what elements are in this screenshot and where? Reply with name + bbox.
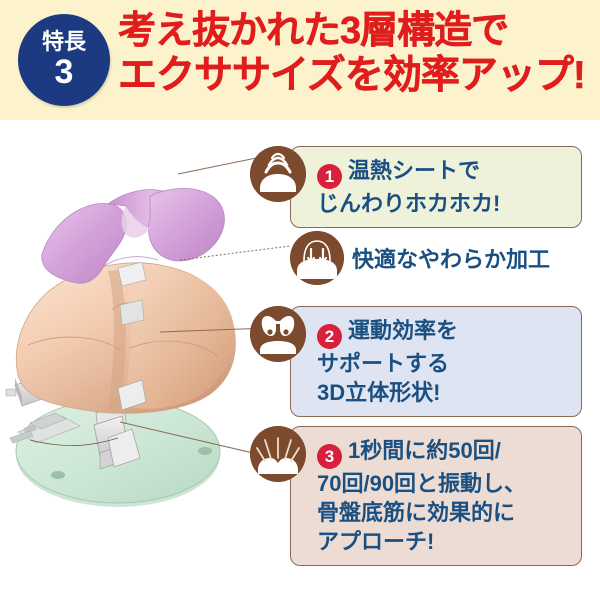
callout-4-line-2: 70回/90回と振動し、 bbox=[317, 469, 567, 498]
callout-4-number: 3 bbox=[317, 444, 342, 469]
callout-3d-shape: 2運動効率を サポートする 3D立体形状! bbox=[250, 306, 582, 417]
pelvis-bone-seat-icon bbox=[250, 306, 306, 362]
callout-1-text: 1温熱シートで じんわりホカホカ! bbox=[317, 156, 567, 218]
feature-badge-label: 特長 bbox=[42, 31, 86, 53]
cushion-layer bbox=[16, 262, 235, 413]
soft-cushion-arrows-icon bbox=[290, 231, 344, 285]
callout-4-box: 31秒間に約50回/ 70回/90回と振動し、 骨盤底筋に効果的に アプローチ! bbox=[290, 426, 582, 566]
callout-1-box: 1温熱シートで じんわりホカホカ! bbox=[290, 146, 582, 228]
callout-1-line-1: 温熱シートで bbox=[348, 158, 480, 183]
callout-4-text: 31秒間に約50回/ 70回/90回と振動し、 骨盤底筋に効果的に アプローチ! bbox=[317, 436, 567, 556]
callout-3-line-1: 運動効率を bbox=[348, 318, 458, 343]
callout-3-text: 2運動効率を サポートする 3D立体形状! bbox=[317, 316, 567, 407]
callout-2-text: 快適なやわらか加工 bbox=[352, 242, 550, 274]
callout-3-line-3: 3D立体形状! bbox=[317, 378, 567, 407]
heat-waves-cushion-icon bbox=[250, 146, 306, 202]
callout-4-line-1: 1秒間に約50回/ bbox=[348, 438, 501, 463]
feature-badge-number: 3 bbox=[55, 55, 74, 89]
callout-1-line-2: じんわりホカホカ! bbox=[317, 189, 567, 218]
callout-3-box: 2運動効率を サポートする 3D立体形状! bbox=[290, 306, 582, 417]
infographic-canvas: 特長 3 考え抜かれた3層構造で エクササイズを効率アップ! bbox=[0, 0, 600, 600]
headline-line-1: 考え抜かれた3層構造で bbox=[118, 10, 596, 54]
feature-badge: 特長 3 bbox=[18, 14, 110, 106]
header-band: 特長 3 考え抜かれた3層構造で エクササイズを効率アップ! bbox=[0, 0, 600, 120]
callout-heating-sheet: 1温熱シートで じんわりホカホカ! bbox=[250, 146, 582, 228]
callout-vibration: 31秒間に約50回/ 70回/90回と振動し、 骨盤底筋に効果的に アプローチ! bbox=[250, 426, 582, 566]
callout-soft-processing: 快適なやわらか加工 bbox=[290, 231, 550, 285]
product-exploded-diagram bbox=[0, 170, 262, 515]
headline: 考え抜かれた3層構造で エクササイズを効率アップ! bbox=[118, 10, 596, 99]
headline-line-2: エクササイズを効率アップ! bbox=[118, 54, 596, 99]
callout-1-number: 1 bbox=[317, 164, 342, 189]
callout-3-line-2: サポートする bbox=[317, 349, 567, 378]
vibration-waves-cushion-icon bbox=[250, 426, 306, 482]
callout-4-line-4: アプローチ! bbox=[317, 527, 567, 556]
callout-3-number: 2 bbox=[317, 324, 342, 349]
callout-4-line-3: 骨盤底筋に効果的に bbox=[317, 498, 567, 527]
